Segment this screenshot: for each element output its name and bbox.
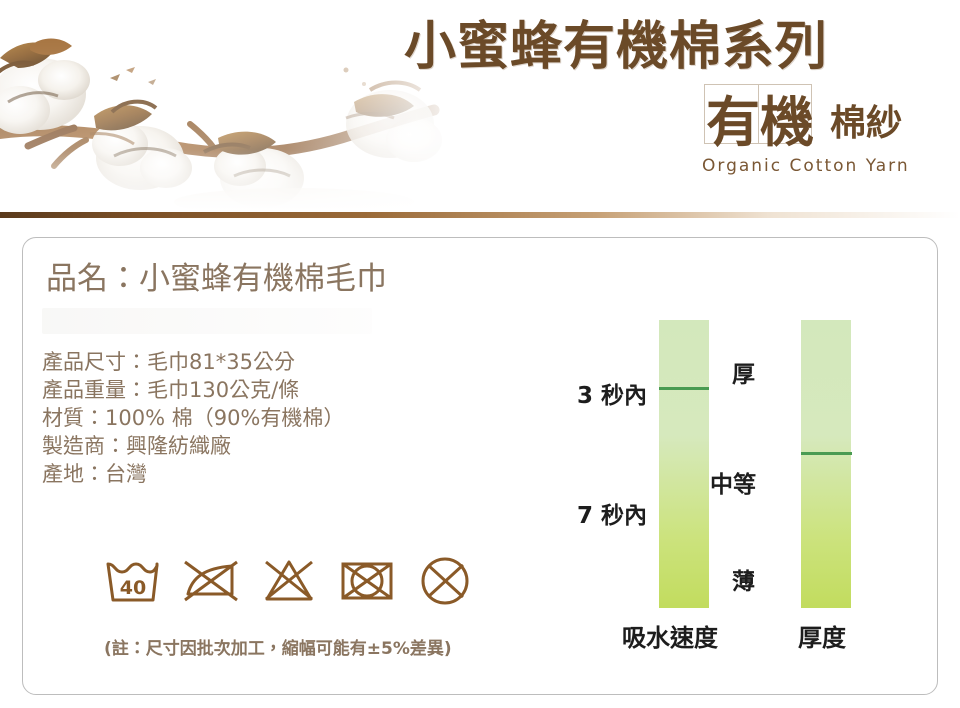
organic-cotton-yarn-logo: 有機 棉紗 Organic Cotton Yarn: [690, 82, 920, 192]
spec-weight: 產品重量：毛巾130公克/條: [42, 376, 522, 404]
scale-label-thick: 厚: [732, 355, 755, 389]
do-not-tumble-dry-icon: [338, 552, 396, 608]
property-gauge-chart: 3 秒內 7 秒內 厚 中等 薄 吸水速度 厚度: [560, 300, 920, 660]
header-divider: [0, 212, 960, 218]
care-symbol-row: 40: [104, 550, 494, 610]
spec-manufacturer: 製造商：興隆紡織廠: [42, 432, 522, 460]
care-note-text: (註：尺寸因批次加工，縮幅可能有±5%差異): [104, 634, 452, 659]
scale-label-thin: 薄: [732, 562, 755, 596]
scale-label-medium: 中等: [710, 465, 756, 499]
svg-text:40: 40: [120, 577, 146, 599]
faded-placeholder-row: [42, 308, 372, 334]
logo-seal-text: 有機: [706, 78, 814, 157]
logo-suffix-text: 棉紗: [830, 94, 902, 146]
product-spec-list: 產品尺寸：毛巾81*35公分 產品重量：毛巾130公克/條 材質：100% 棉（…: [42, 348, 522, 488]
do-not-bleach-icon: [260, 552, 318, 608]
page-title: 小蜜蜂有機棉系列: [404, 4, 944, 79]
logo-english-text: Organic Cotton Yarn: [702, 156, 910, 176]
spec-size: 產品尺寸：毛巾81*35公分: [42, 348, 522, 376]
scale-label-3-seconds: 3 秒內: [577, 376, 647, 410]
axis-label-absorption: 吸水速度: [622, 618, 718, 653]
header-banner: 小蜜蜂有機棉系列 有機 棉紗 Organic Cotton Yarn: [0, 0, 960, 214]
spec-origin: 產地：台灣: [42, 460, 522, 488]
cotton-branch-photo: [0, 6, 464, 211]
gauge-marker-thickness: [801, 452, 852, 455]
do-not-iron-icon: [182, 552, 240, 608]
product-name: 品名：小蜜蜂有機棉毛巾: [46, 253, 387, 298]
gauge-marker-absorption: [659, 387, 709, 390]
spec-material: 材質：100% 棉（90%有機棉）: [42, 404, 522, 432]
gauge-bar-thickness: [801, 320, 851, 608]
axis-label-thickness: 厚度: [798, 618, 846, 653]
gauge-bar-absorption: [659, 320, 709, 608]
wash-40-icon: 40: [104, 552, 162, 608]
do-not-dry-clean-icon: [416, 552, 474, 608]
scale-label-7-seconds: 7 秒內: [577, 496, 647, 530]
